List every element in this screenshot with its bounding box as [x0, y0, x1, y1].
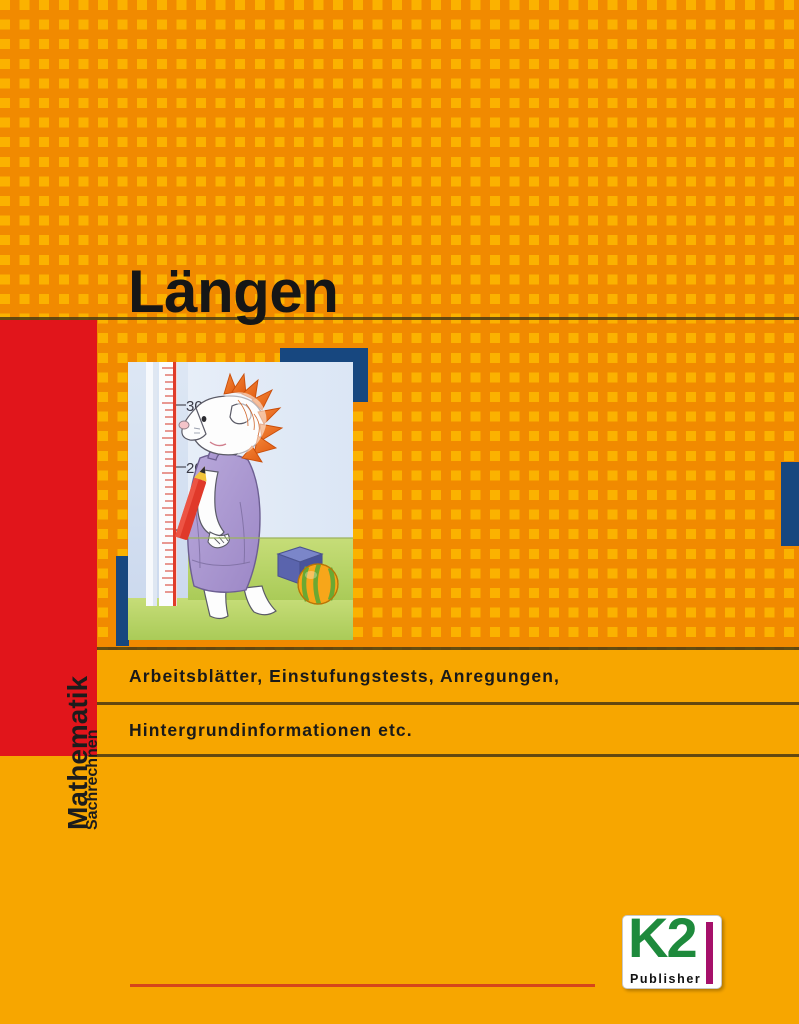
- page-title: Längen: [128, 262, 338, 322]
- edge-tab-marker: [781, 462, 799, 546]
- title-divider-rule: [0, 317, 799, 320]
- subtitle-band-2: Hintergrundinformationen etc.: [97, 705, 799, 755]
- band-divider-bottom: [97, 754, 799, 757]
- cover-illustration: 30 20 10: [110, 340, 390, 660]
- footer-rule: [130, 984, 595, 987]
- hedgehog-measuring-scene-icon: 30 20 10: [128, 362, 353, 640]
- logo-accent-bar-icon: [706, 922, 713, 984]
- book-cover: Längen Mathematik Sachrechnen: [0, 0, 799, 1024]
- subtitle-band-1: Arbeitsblätter, Einstufungstests, Anregu…: [97, 650, 799, 703]
- band-divider-top: [97, 647, 799, 650]
- logo-wordmark: Publisher: [630, 973, 701, 986]
- publisher-logo: K2 Publisher: [622, 915, 722, 989]
- subtitle-line-1: Arbeitsblätter, Einstufungstests, Anregu…: [129, 666, 560, 687]
- subtitle-line-2: Hintergrundinformationen etc.: [129, 720, 413, 741]
- subject-sidebar: Mathematik Sachrechnen: [0, 320, 97, 756]
- illustration-frame: 30 20 10: [128, 362, 353, 640]
- band-divider-middle: [97, 702, 799, 705]
- logo-mark-text: K2: [628, 915, 696, 966]
